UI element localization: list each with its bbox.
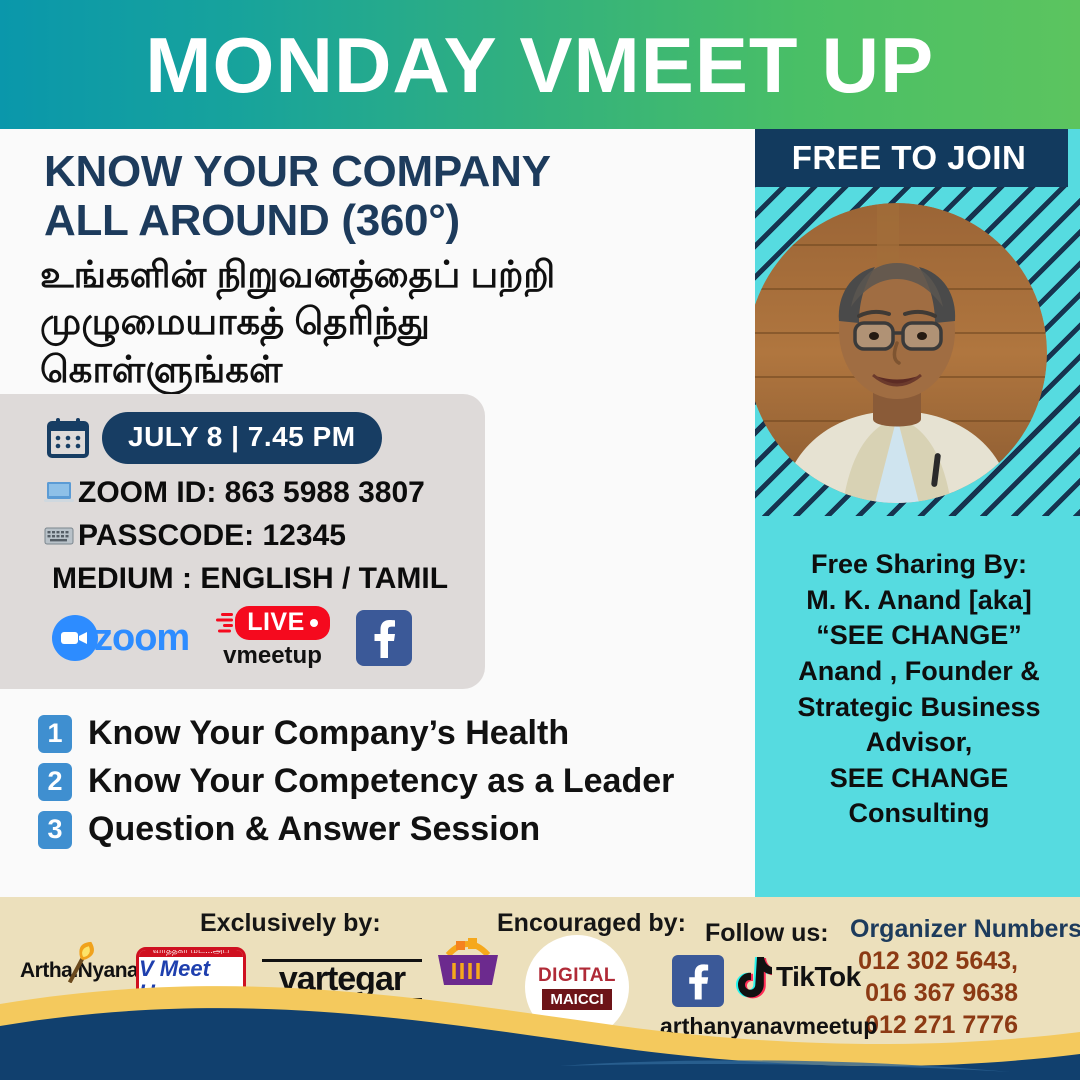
- motion-lines-icon: [215, 610, 235, 636]
- live-pill: LIVE: [235, 606, 330, 640]
- page-title: MONDAY VMEET UP: [146, 26, 935, 104]
- date-time-pill: JULY 8 | 7.45 PM: [102, 412, 382, 464]
- medium-label: MEDIUM : ENGLISH / TAMIL: [52, 562, 448, 596]
- facebook-icon[interactable]: [356, 610, 412, 666]
- encouraged-by-label: Encouraged by:: [497, 909, 686, 938]
- speaker-bio-line: Consulting: [763, 796, 1075, 832]
- zoom-logo[interactable]: zoom: [52, 615, 189, 661]
- list-item: 2 Know Your Competency as a Leader: [38, 762, 674, 801]
- speaker-bio-line: Free Sharing By:: [763, 547, 1075, 583]
- tamil-line-3: கொள்ளுங்கள்: [40, 349, 282, 390]
- wave-decoration: [0, 960, 1080, 1080]
- event-details-card: JULY 8 | 7.45 PM ZOOM ID: 863 5988 3807: [0, 394, 485, 689]
- exclusively-by-label: Exclusively by:: [200, 909, 381, 938]
- zoom-id-row: ZOOM ID: 863 5988 3807: [44, 476, 425, 510]
- headline-line-2: ALL AROUND (360°): [44, 196, 460, 245]
- main-headline: KNOW YOUR COMPANY ALL AROUND (360°): [44, 147, 704, 246]
- tamil-subheadline: உங்களின் நிறுவனத்தைப் பற்றி முழுமையாகத் …: [40, 251, 740, 393]
- tamil-line-2: முழுமையாகத் தெரிந்து: [40, 301, 430, 342]
- tamil-line-1: உங்களின் நிறுவனத்தைப் பற்றி: [40, 254, 555, 295]
- agenda-number-badge: 2: [38, 763, 72, 801]
- list-item: 3 Question & Answer Session: [38, 810, 674, 849]
- live-badge: LIVE: [215, 606, 330, 640]
- passcode-row: PASSCODE: 12345: [44, 519, 346, 553]
- agenda-list: 1 Know Your Company’s Health 2 Know Your…: [38, 714, 674, 858]
- zoom-wordmark: zoom: [94, 617, 189, 660]
- headline-line-1: KNOW YOUR COMPANY: [44, 147, 551, 196]
- agenda-item-label: Know Your Competency as a Leader: [88, 762, 674, 801]
- left-content-column: KNOW YOUR COMPANY ALL AROUND (360°) உங்க…: [0, 129, 755, 897]
- header-banner: MONDAY VMEET UP: [0, 0, 1080, 129]
- agenda-item-label: Know Your Company’s Health: [88, 714, 569, 753]
- speaker-bio-line: Advisor,: [763, 725, 1075, 761]
- footer-bar: Exclusively by: Encouraged by: Follow us…: [0, 897, 1080, 1080]
- agenda-number-badge: 1: [38, 715, 72, 753]
- calendar-icon: [46, 416, 90, 460]
- live-dot-icon: [310, 619, 318, 627]
- zoom-camera-icon: [52, 615, 98, 661]
- platform-logo-row: zoom LIVE: [52, 606, 412, 670]
- speaker-portrait: [755, 203, 1047, 503]
- speaker-bio-line: “SEE CHANGE”: [763, 618, 1075, 654]
- passcode-label: PASSCODE: 12345: [78, 519, 346, 553]
- speaker-bio-line: SEE CHANGE: [763, 761, 1075, 797]
- follow-us-label: Follow us:: [705, 919, 829, 948]
- medium-row: MEDIUM : ENGLISH / TAMIL: [52, 562, 448, 596]
- organizer-numbers-label: Organizer Numbers:: [850, 915, 1080, 944]
- zoom-id-label: ZOOM ID: 863 5988 3807: [78, 476, 425, 510]
- keyboard-icon: [44, 523, 74, 549]
- live-label: LIVE: [247, 608, 305, 637]
- free-to-join-badge: FREE TO JOIN: [755, 129, 1068, 187]
- speaker-bio: Free Sharing By: M. K. Anand [aka] “SEE …: [763, 547, 1075, 832]
- live-badge-block: LIVE vmeetup: [215, 606, 330, 670]
- speaker-bio-line: Strategic Business: [763, 690, 1075, 726]
- vmeetup-label: vmeetup: [223, 642, 322, 670]
- agenda-number-badge: 3: [38, 811, 72, 849]
- laptop-icon: [44, 480, 74, 506]
- list-item: 1 Know Your Company’s Health: [38, 714, 674, 753]
- date-time-row: JULY 8 | 7.45 PM: [46, 412, 382, 464]
- speaker-bio-line: M. K. Anand [aka]: [763, 583, 1075, 619]
- agenda-item-label: Question & Answer Session: [88, 810, 540, 849]
- speaker-panel: FREE TO JOIN: [755, 129, 1080, 897]
- speaker-bio-line: Anand , Founder &: [763, 654, 1075, 690]
